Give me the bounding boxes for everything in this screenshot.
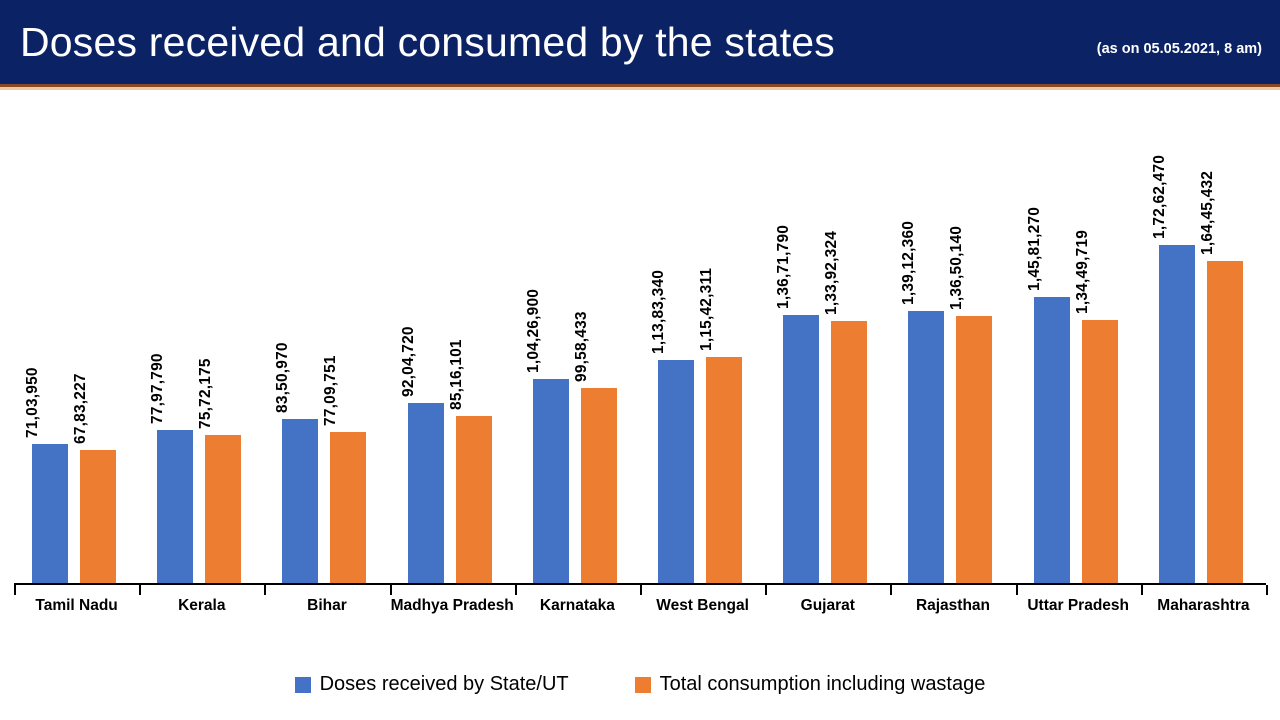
bar-value-label: 1,36,50,140	[948, 226, 966, 310]
bar-value-label: 83,50,970	[274, 342, 292, 413]
bar-rect	[956, 316, 992, 583]
bar-group: 77,97,79075,72,175	[139, 95, 264, 583]
legend-swatch-blue	[295, 677, 311, 693]
bar-group: 1,45,81,2701,34,49,719	[1016, 95, 1141, 583]
x-axis-category-labels: Tamil NaduKeralaBiharMadhya PradeshKarna…	[14, 595, 1266, 657]
x-axis-tick	[515, 585, 517, 595]
bar-doses-received[interactable]: 1,04,26,900	[533, 379, 569, 583]
bar-value-label: 85,16,101	[448, 339, 466, 410]
bar-value-label: 1,45,81,270	[1026, 207, 1044, 291]
bar-value-label: 1,33,92,324	[823, 231, 841, 315]
bar-doses-received[interactable]: 1,36,71,790	[783, 315, 819, 583]
x-axis-tick	[14, 585, 16, 595]
bar-value-label: 71,03,950	[24, 367, 42, 438]
header-timestamp: (as on 05.05.2021, 8 am)	[1097, 41, 1262, 57]
x-axis-tick	[390, 585, 392, 595]
bar-rect	[1034, 297, 1070, 583]
bar-rect	[282, 419, 318, 583]
bar-group: 1,04,26,90099,58,433	[515, 95, 640, 583]
bar-total-consumption[interactable]: 1,64,45,432	[1207, 261, 1243, 583]
bar-value-label: 1,39,12,360	[900, 221, 918, 305]
bar-rect	[80, 450, 116, 583]
x-axis-label-maharashtra: Maharashtra	[1141, 595, 1266, 616]
bar-value-label: 1,04,26,900	[525, 289, 543, 373]
x-axis-tick	[1141, 585, 1143, 595]
x-axis-label-madhya-pradesh: Madhya Pradesh	[390, 595, 515, 616]
legend-item-doses-received[interactable]: Doses received by State/UT	[295, 673, 569, 696]
bar-doses-received[interactable]: 83,50,970	[282, 419, 318, 583]
bar-group: 1,13,83,3401,15,42,311	[640, 95, 765, 583]
bar-rect	[330, 432, 366, 583]
bar-group: 1,36,71,7901,33,92,324	[765, 95, 890, 583]
bar-value-label: 1,36,71,790	[775, 225, 793, 309]
page-title: Doses received and consumed by the state…	[20, 14, 835, 70]
bar-value-label: 1,15,42,311	[698, 268, 716, 351]
bar-total-consumption[interactable]: 1,33,92,324	[831, 321, 867, 583]
bar-total-consumption[interactable]: 77,09,751	[330, 432, 366, 583]
x-axis-label-bihar: Bihar	[264, 595, 389, 616]
x-axis-label-rajasthan: Rajasthan	[890, 595, 1015, 616]
bar-rect	[1082, 320, 1118, 583]
bar-rect	[706, 357, 742, 583]
x-axis-tick	[1016, 585, 1018, 595]
bar-total-consumption[interactable]: 67,83,227	[80, 450, 116, 583]
x-axis-label-kerala: Kerala	[139, 595, 264, 616]
bar-group: 92,04,72085,16,101	[390, 95, 515, 583]
bar-doses-received[interactable]: 1,45,81,270	[1034, 297, 1070, 583]
x-axis-label-tamil-nadu: Tamil Nadu	[14, 595, 139, 616]
bar-value-label: 77,09,751	[322, 355, 340, 426]
chart-plot-area: 71,03,95067,83,22777,97,79075,72,17583,5…	[14, 95, 1266, 583]
bar-total-consumption[interactable]: 1,34,49,719	[1082, 320, 1118, 583]
bar-rect	[408, 403, 444, 583]
bar-doses-received[interactable]: 1,39,12,360	[908, 311, 944, 583]
bar-rect	[456, 416, 492, 583]
bar-chart: 71,03,95067,83,22777,97,79075,72,17583,5…	[0, 95, 1280, 720]
bar-rect	[783, 315, 819, 583]
bar-value-label: 1,34,49,719	[1074, 230, 1092, 314]
bar-group: 1,39,12,3601,36,50,140	[890, 95, 1015, 583]
bar-rect	[157, 430, 193, 583]
bar-rect	[831, 321, 867, 583]
legend-label-total-consumption: Total consumption including wastage	[660, 673, 986, 696]
x-axis-label-uttar-pradesh: Uttar Pradesh	[1016, 595, 1141, 616]
bar-value-label: 1,13,83,340	[650, 270, 668, 354]
bar-value-label: 67,83,227	[72, 373, 90, 444]
bar-value-label: 77,97,790	[149, 353, 167, 424]
chart-legend: Doses received by State/UT Total consump…	[0, 673, 1280, 696]
x-axis-label-karnataka: Karnataka	[515, 595, 640, 616]
bar-doses-received[interactable]: 71,03,950	[32, 444, 68, 583]
bar-total-consumption[interactable]: 85,16,101	[456, 416, 492, 583]
x-axis-label-west-bengal: West Bengal	[640, 595, 765, 616]
bar-doses-received[interactable]: 92,04,720	[408, 403, 444, 583]
bar-rect	[32, 444, 68, 583]
x-axis-label-gujarat: Gujarat	[765, 595, 890, 616]
bar-rect	[1207, 261, 1243, 583]
bar-group: 1,72,62,4701,64,45,432	[1141, 95, 1266, 583]
bar-total-consumption[interactable]: 1,15,42,311	[706, 357, 742, 583]
bar-total-consumption[interactable]: 75,72,175	[205, 435, 241, 583]
bar-rect	[1159, 245, 1195, 583]
x-axis-tick	[1266, 585, 1268, 595]
bar-doses-received[interactable]: 1,72,62,470	[1159, 245, 1195, 583]
header-banner: Doses received and consumed by the state…	[0, 0, 1280, 84]
bar-group: 83,50,97077,09,751	[264, 95, 389, 583]
bar-group: 71,03,95067,83,227	[14, 95, 139, 583]
legend-item-total-consumption[interactable]: Total consumption including wastage	[635, 673, 986, 696]
x-axis-tick	[890, 585, 892, 595]
bar-value-label: 99,58,433	[573, 311, 591, 382]
bar-value-label: 1,72,62,470	[1151, 155, 1169, 239]
accent-rule-light	[0, 87, 1280, 90]
bar-value-label: 75,72,175	[197, 358, 215, 429]
bar-total-consumption[interactable]: 99,58,433	[581, 388, 617, 583]
x-axis-tick	[640, 585, 642, 595]
x-axis-tick	[765, 585, 767, 595]
bar-rect	[581, 388, 617, 583]
bar-rect	[658, 360, 694, 583]
bar-doses-received[interactable]: 77,97,790	[157, 430, 193, 583]
bar-value-label: 92,04,720	[400, 326, 418, 397]
bar-rect	[533, 379, 569, 583]
x-axis-tick	[264, 585, 266, 595]
bar-total-consumption[interactable]: 1,36,50,140	[956, 316, 992, 583]
bar-rect	[908, 311, 944, 583]
bar-value-label: 1,64,45,432	[1199, 171, 1217, 255]
bar-rect	[205, 435, 241, 583]
x-axis-tick	[139, 585, 141, 595]
bar-doses-received[interactable]: 1,13,83,340	[658, 360, 694, 583]
legend-swatch-orange	[635, 677, 651, 693]
legend-label-doses-received: Doses received by State/UT	[320, 673, 569, 696]
